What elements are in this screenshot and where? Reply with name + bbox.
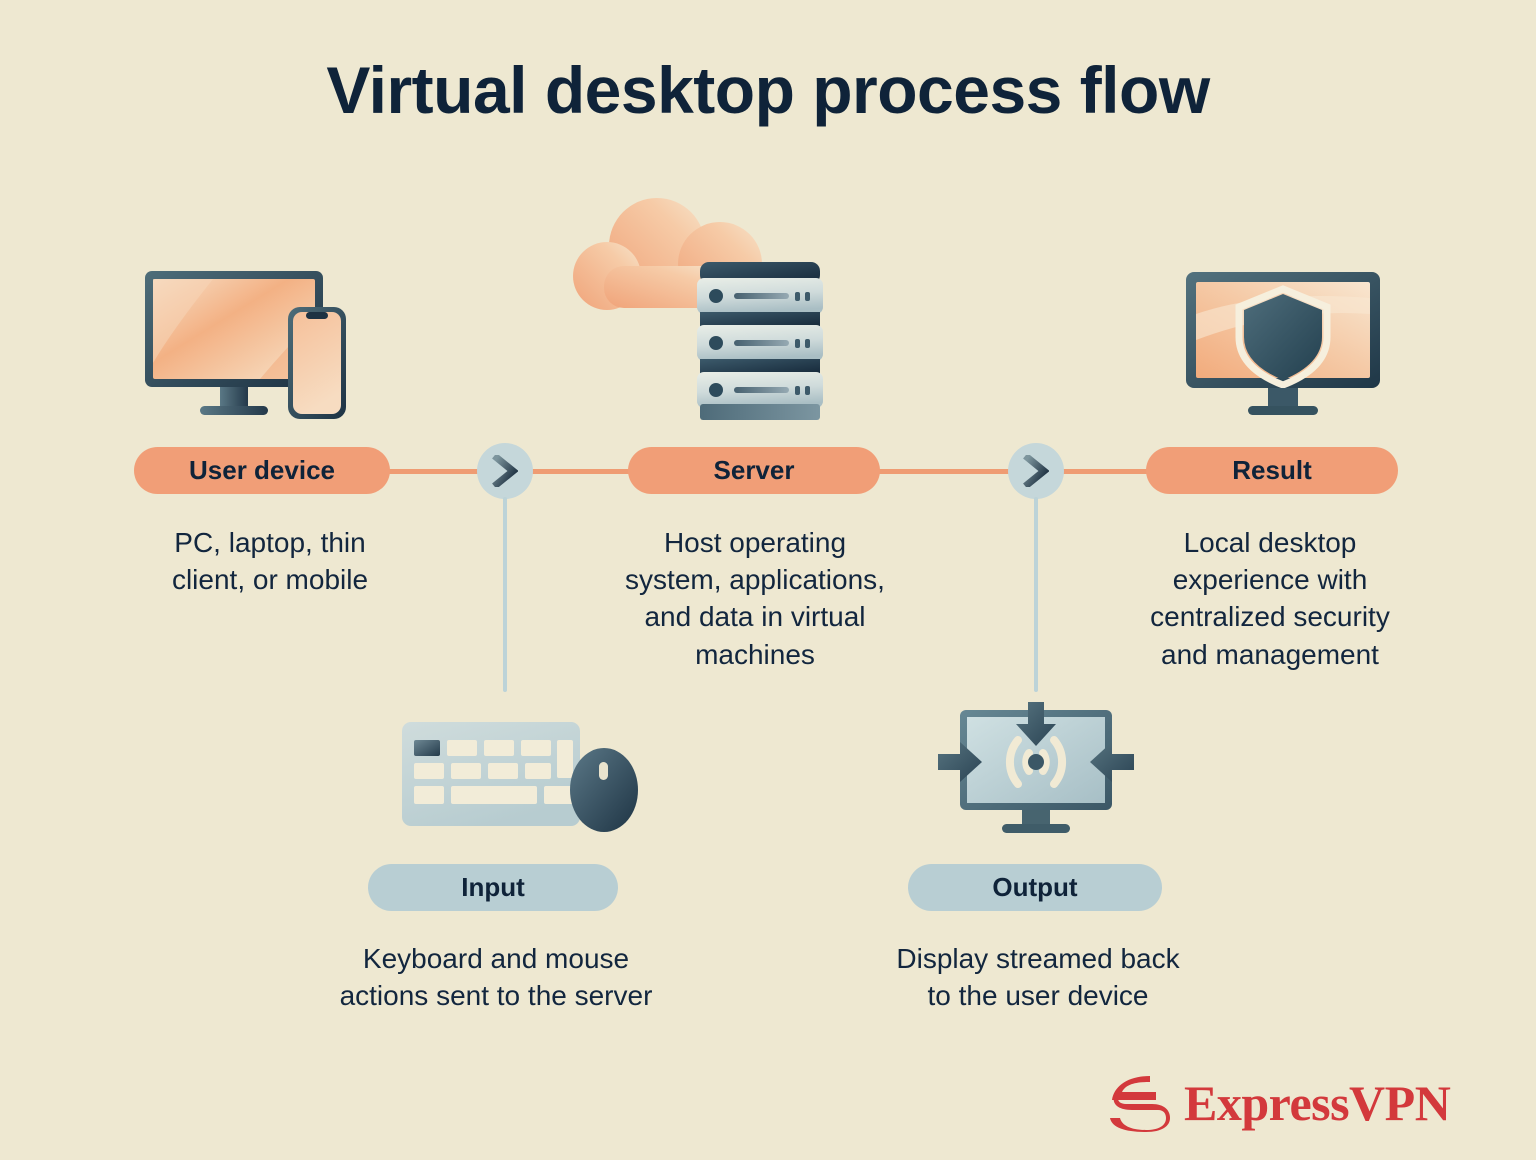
cloud-server-stack-icon — [562, 186, 852, 420]
step-pill-result[interactable]: Result — [1146, 447, 1398, 494]
page-title: Virtual desktop process flow — [0, 52, 1536, 128]
step-description-server: Host operatingsystem, applications,and d… — [575, 524, 935, 673]
expressvpn-e-mark-icon — [1108, 1074, 1170, 1132]
step-pill-server[interactable]: Server — [628, 447, 880, 494]
monitor-and-phone-icon — [140, 265, 360, 425]
infographic-canvas: Virtual desktop process flow — [0, 0, 1536, 1160]
chevron-right-icon — [477, 443, 533, 499]
connector-line-input — [503, 497, 507, 692]
keyboard-and-mouse-icon — [400, 718, 640, 836]
step-description-output: Display streamed backto the user device — [830, 940, 1246, 1014]
monitor-shield-icon — [1182, 268, 1384, 418]
connector-line-output — [1034, 497, 1038, 692]
expressvpn-logo: ExpressVPN — [1108, 1074, 1450, 1132]
step-description-user-device: PC, laptop, thinclient, or mobile — [120, 524, 420, 598]
step-description-input: Keyboard and mouseactions sent to the se… — [268, 940, 724, 1014]
step-pill-user-device[interactable]: User device — [134, 447, 390, 494]
monitor-broadcast-icon — [938, 702, 1134, 838]
step-description-result: Local desktopexperience withcentralized … — [1100, 524, 1440, 673]
chevron-right-icon — [1008, 443, 1064, 499]
expressvpn-wordmark: ExpressVPN — [1184, 1074, 1450, 1132]
step-pill-input[interactable]: Input — [368, 864, 618, 911]
step-pill-output[interactable]: Output — [908, 864, 1162, 911]
